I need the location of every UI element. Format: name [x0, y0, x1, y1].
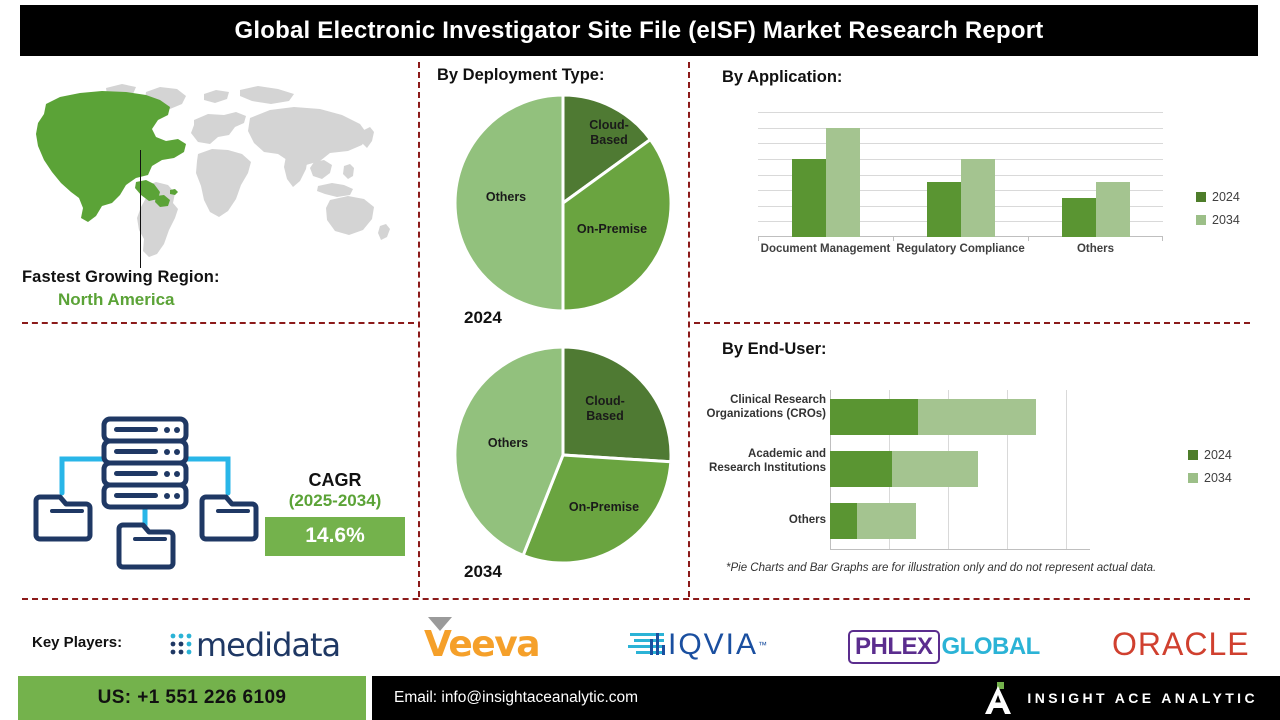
legend-label-2024: 2024	[1204, 448, 1232, 462]
chart-footnote: *Pie Charts and Bar Graphs are for illus…	[726, 562, 1246, 574]
legend-label-2024: 2024	[1212, 190, 1240, 204]
footer-email[interactable]: Email: info@insightaceanalytic.com	[394, 689, 638, 707]
key-players-label: Key Players:	[32, 634, 122, 651]
segment-2034	[918, 399, 1036, 435]
segment-2034	[857, 503, 916, 539]
category-label-academic: Academic and Research Institutions	[706, 448, 826, 476]
segment-2024	[830, 451, 892, 487]
bar-2024	[792, 159, 826, 237]
header-bar: Global Electronic Investigator Site File…	[20, 5, 1258, 56]
logo-veeva: Veeva	[424, 624, 539, 665]
page-title: Global Electronic Investigator Site File…	[235, 17, 1044, 45]
phlex-box: PHLEX	[848, 630, 940, 664]
footer-phone[interactable]: US: +1 551 226 6109	[18, 676, 366, 720]
legend-swatch-2024	[1188, 450, 1198, 460]
logo-phlexglobal: PHLEX GLOBAL	[848, 630, 1040, 664]
enduser-legend: 2024 2034	[1188, 448, 1232, 494]
divider-horizontal-bottom	[22, 598, 1250, 600]
pie-2024-year: 2024	[464, 308, 502, 328]
application-heading: By Application:	[722, 68, 842, 87]
axis-tick	[893, 237, 894, 241]
bar-2034	[1096, 182, 1130, 237]
footer-brand-name: INSIGHT ACE ANALYTIC	[1027, 690, 1258, 706]
phlex-wordmark: PHLEX	[855, 633, 933, 661]
region-value: North America	[58, 290, 402, 310]
legend-swatch-2034	[1188, 473, 1198, 483]
gridline	[1066, 390, 1067, 550]
legend-item-2024: 2024	[1196, 190, 1240, 204]
divider-vertical-right	[688, 62, 690, 597]
category-label: Document Management	[758, 242, 893, 256]
category-label-others: Others	[706, 514, 826, 528]
region-label: Fastest Growing Region:	[22, 268, 402, 287]
cagr-value: 14.6%	[265, 517, 405, 556]
legend-item-2034: 2034	[1196, 213, 1240, 227]
legend-swatch-2024	[1196, 192, 1206, 202]
stacked-bar-cros	[830, 399, 1036, 435]
logo-medidata: medidata	[168, 626, 340, 664]
application-bar-chart: Document Management Regulatory Complianc…	[748, 112, 1258, 287]
bar-group-regulatory-compliance	[893, 112, 1028, 237]
segment-2024	[830, 399, 918, 435]
pie-chart-2034: Cloud-Based On-Premise Others	[452, 344, 674, 566]
bar-2034	[961, 159, 995, 237]
medidata-dots-icon	[168, 630, 196, 660]
iqvia-wordmark: IQVIA	[668, 628, 758, 662]
bar-2024	[1062, 198, 1096, 237]
bar-group-document-management	[758, 112, 893, 237]
application-category-labels: Document Management Regulatory Complianc…	[758, 242, 1163, 256]
iqvia-trademark: ™	[758, 640, 767, 650]
axis-tick	[758, 237, 759, 241]
axis-tick	[1162, 237, 1163, 241]
segment-2024	[830, 503, 857, 539]
bar-2024	[927, 182, 961, 237]
divider-horizontal-right	[694, 322, 1250, 324]
category-label-cros: Clinical Research Organizations (CROs)	[706, 394, 826, 422]
cagr-title: CAGR	[265, 470, 405, 490]
footer-brand: INSIGHT ACE ANALYTIC	[983, 681, 1258, 715]
map-pointer-line	[140, 150, 141, 268]
legend-label-2034: 2034	[1212, 213, 1240, 227]
cagr-panel: CAGR (2025-2034) 14.6%	[265, 470, 405, 556]
veeva-triangle-icon	[428, 617, 452, 631]
cagr-years: (2025-2034)	[265, 491, 405, 511]
insightace-logo-icon	[983, 681, 1013, 715]
logo-oracle: ORACLE	[1112, 626, 1250, 663]
category-label: Others	[1028, 242, 1163, 256]
divider-horizontal-left	[22, 322, 414, 324]
oracle-wordmark: ORACLE	[1112, 626, 1250, 663]
stacked-bar-others	[830, 503, 916, 539]
footer-bar: Email: info@insightaceanalytic.com INSIG…	[372, 676, 1280, 720]
global-wordmark: GLOBAL	[942, 633, 1040, 661]
bar-group-others	[1028, 112, 1163, 237]
divider-vertical-left	[418, 62, 420, 597]
enduser-heading: By End-User:	[722, 340, 827, 359]
legend-item-2024: 2024	[1188, 448, 1232, 462]
enduser-bar-chart: 2024 2034	[830, 390, 1090, 550]
legend-item-2034: 2034	[1188, 471, 1232, 485]
fastest-growing-region: Fastest Growing Region: North America	[22, 268, 402, 310]
deployment-heading: By Deployment Type:	[437, 66, 604, 85]
server-network-icon	[30, 385, 260, 570]
medidata-wordmark: medidata	[196, 626, 340, 664]
legend-swatch-2034	[1196, 215, 1206, 225]
segment-2034	[892, 451, 978, 487]
enduser-category-labels: Clinical Research Organizations (CROs) A…	[706, 390, 826, 550]
pie-2034-year: 2034	[464, 562, 502, 582]
application-plot	[758, 112, 1163, 237]
legend-label-2034: 2034	[1204, 471, 1232, 485]
infographic-root: Global Electronic Investigator Site File…	[0, 0, 1280, 720]
logo-iqvia: IQVIA ™	[626, 628, 767, 662]
category-label: Regulatory Compliance	[893, 242, 1028, 256]
x-axis	[830, 549, 1090, 550]
bar-groups	[758, 112, 1163, 237]
application-legend: 2024 2034	[1196, 190, 1240, 236]
world-map	[18, 78, 410, 268]
stacked-bar-academic	[830, 451, 978, 487]
bar-2034	[826, 128, 860, 237]
pie-chart-2024: Cloud-Based On-Premise Others	[452, 92, 674, 314]
iqvia-stripes-icon	[626, 630, 668, 660]
axis-tick	[1028, 237, 1029, 241]
